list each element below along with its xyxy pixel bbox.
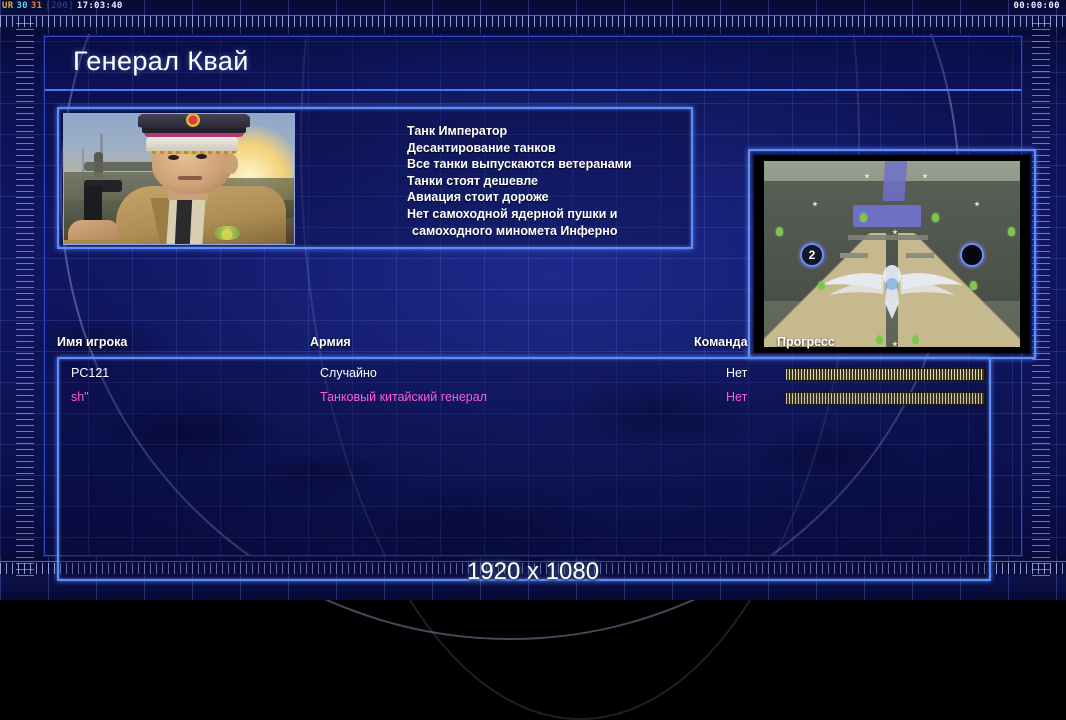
- map-tree: [970, 281, 977, 290]
- map-start-position-1[interactable]: [960, 243, 984, 267]
- ability-line-5: Авиация стоит дороже: [407, 189, 687, 206]
- hud-clock-right: 00:00:00: [1013, 1, 1060, 11]
- player-progress-bar: [785, 368, 985, 381]
- hud-value-1: 30: [16, 1, 27, 11]
- portrait-wing-badge: [214, 226, 240, 240]
- ability-line-7: самоходного миномета Инферно: [407, 223, 687, 240]
- left-ruler-strip: [16, 20, 34, 576]
- hud-value-2: 31: [31, 1, 42, 11]
- map-tree: [818, 281, 825, 290]
- map-eagle-emblem: [817, 259, 967, 326]
- table-row[interactable]: PC121 Случайно Нет: [63, 363, 985, 387]
- players-list-panel: PC121 Случайно Нет sh" Танковый китайски…: [57, 357, 991, 581]
- map-start-position-2[interactable]: 2: [800, 243, 824, 267]
- player-progress-bar: [785, 392, 985, 405]
- general-info-window: Генерал Квай: [44, 36, 1022, 556]
- player-army[interactable]: Случайно: [320, 366, 377, 380]
- general-portrait: [63, 113, 295, 245]
- column-header-army: Армия: [310, 335, 351, 349]
- table-row[interactable]: sh" Танковый китайский генерал Нет: [63, 387, 985, 411]
- hud-bracket: [200]: [45, 1, 74, 11]
- game-screen: UR 30 31 [200] 17:03:40 00:00:00 Генерал…: [0, 0, 1066, 600]
- column-header-team: Команда: [694, 335, 748, 349]
- player-name: PC121: [71, 366, 109, 380]
- portrait-tie: [175, 194, 193, 245]
- map-river: [882, 155, 907, 201]
- player-army[interactable]: Танковый китайский генерал: [320, 390, 487, 404]
- map-road-1: [848, 235, 928, 240]
- column-header-progress: Прогресс: [777, 335, 835, 349]
- window-titlebar: Генерал Квай: [45, 37, 1021, 91]
- player-name: sh": [71, 390, 89, 404]
- portrait-eye-right: [196, 154, 207, 159]
- player-team[interactable]: Нет: [726, 366, 747, 380]
- map-tree: [1008, 227, 1015, 236]
- hud-label: UR: [2, 1, 13, 11]
- hud-clock-left: 17:03:40: [77, 1, 123, 11]
- ability-line-2: Десантирование танков: [407, 140, 687, 157]
- portrait-cap-visor: [146, 136, 238, 151]
- ability-line-3: Все танки выпускаются ветеранами: [407, 156, 687, 173]
- map-tree: [860, 213, 867, 222]
- map-road-3: [906, 253, 934, 258]
- map-road-2: [840, 253, 868, 258]
- resolution-label: 1920 x 1080: [0, 558, 1066, 586]
- map-preview-image[interactable]: 2: [754, 155, 1030, 353]
- general-ability-list: Танк Император Десантирование танков Все…: [407, 123, 687, 239]
- ability-line-6: Нет самоходной ядерной пушки и: [407, 206, 687, 223]
- player-team[interactable]: Нет: [726, 390, 747, 404]
- map-letterbox-left: [754, 155, 764, 353]
- portrait-sleeve: [63, 240, 132, 245]
- portrait-cap-star-emblem: [186, 113, 200, 127]
- column-header-player-name: Имя игрока: [57, 335, 127, 349]
- map-tree: [932, 213, 939, 222]
- map-tree: [776, 227, 783, 236]
- portrait-mouth: [178, 176, 202, 180]
- ability-line-1: Танк Император: [407, 123, 687, 140]
- page-title: Генерал Квай: [73, 46, 249, 77]
- top-ruler-ticks: [0, 16, 1066, 27]
- portrait-eye-left: [168, 155, 179, 160]
- left-ruler-ticks: [16, 20, 34, 576]
- portrait-ear: [224, 154, 238, 174]
- top-ruler-strip: [0, 0, 1066, 34]
- map-letterbox-top: [754, 155, 1030, 161]
- ability-line-4: Танки стоят дешевле: [407, 173, 687, 190]
- general-info-panel: Танк Император Десантирование танков Все…: [57, 107, 693, 249]
- map-letterbox-right: [1020, 155, 1030, 353]
- players-table-header: Имя игрока Армия Команда Прогресс: [57, 335, 991, 355]
- map-preview-panel[interactable]: 2: [748, 149, 1036, 359]
- hud-status-left: UR 30 31 [200] 17:03:40: [2, 1, 123, 11]
